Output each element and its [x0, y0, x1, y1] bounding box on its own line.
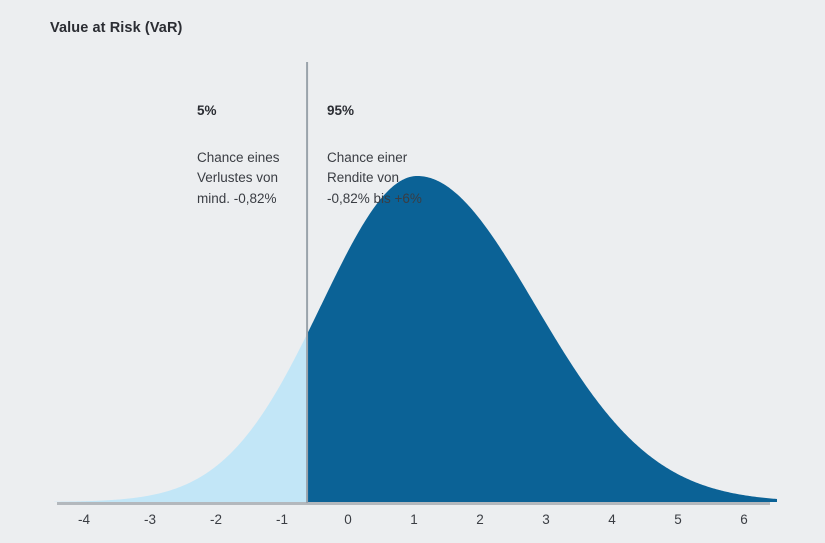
x-tick-label: 3: [542, 512, 550, 527]
annotation-return-text: Chance einer Rendite von -0,82% bis +6%: [327, 148, 462, 210]
x-tick-label: 6: [740, 512, 748, 527]
annotation-loss-percent: 5%: [197, 101, 302, 122]
x-tick-label: 4: [608, 512, 616, 527]
x-tick-label: 0: [344, 512, 352, 527]
x-tick-label: 5: [674, 512, 682, 527]
annotation-loss-text: Chance eines Verlustes von mind. -0,82%: [197, 148, 302, 210]
x-tick-label: -2: [210, 512, 222, 527]
var-chart: Value at Risk (VaR) -4-3-2-10123456 5% C…: [0, 0, 825, 543]
annotation-return: 95% Chance einer Rendite von -0,82% bis …: [327, 80, 462, 230]
x-axis-tick-labels: -4-3-2-10123456: [78, 512, 748, 527]
x-tick-label: 1: [410, 512, 418, 527]
x-tick-label: -1: [276, 512, 288, 527]
annotation-loss: 5% Chance eines Verlustes von mind. -0,8…: [197, 80, 302, 230]
x-tick-label: -4: [78, 512, 90, 527]
annotation-return-percent: 95%: [327, 101, 462, 122]
x-tick-label: -3: [144, 512, 156, 527]
x-tick-label: 2: [476, 512, 484, 527]
